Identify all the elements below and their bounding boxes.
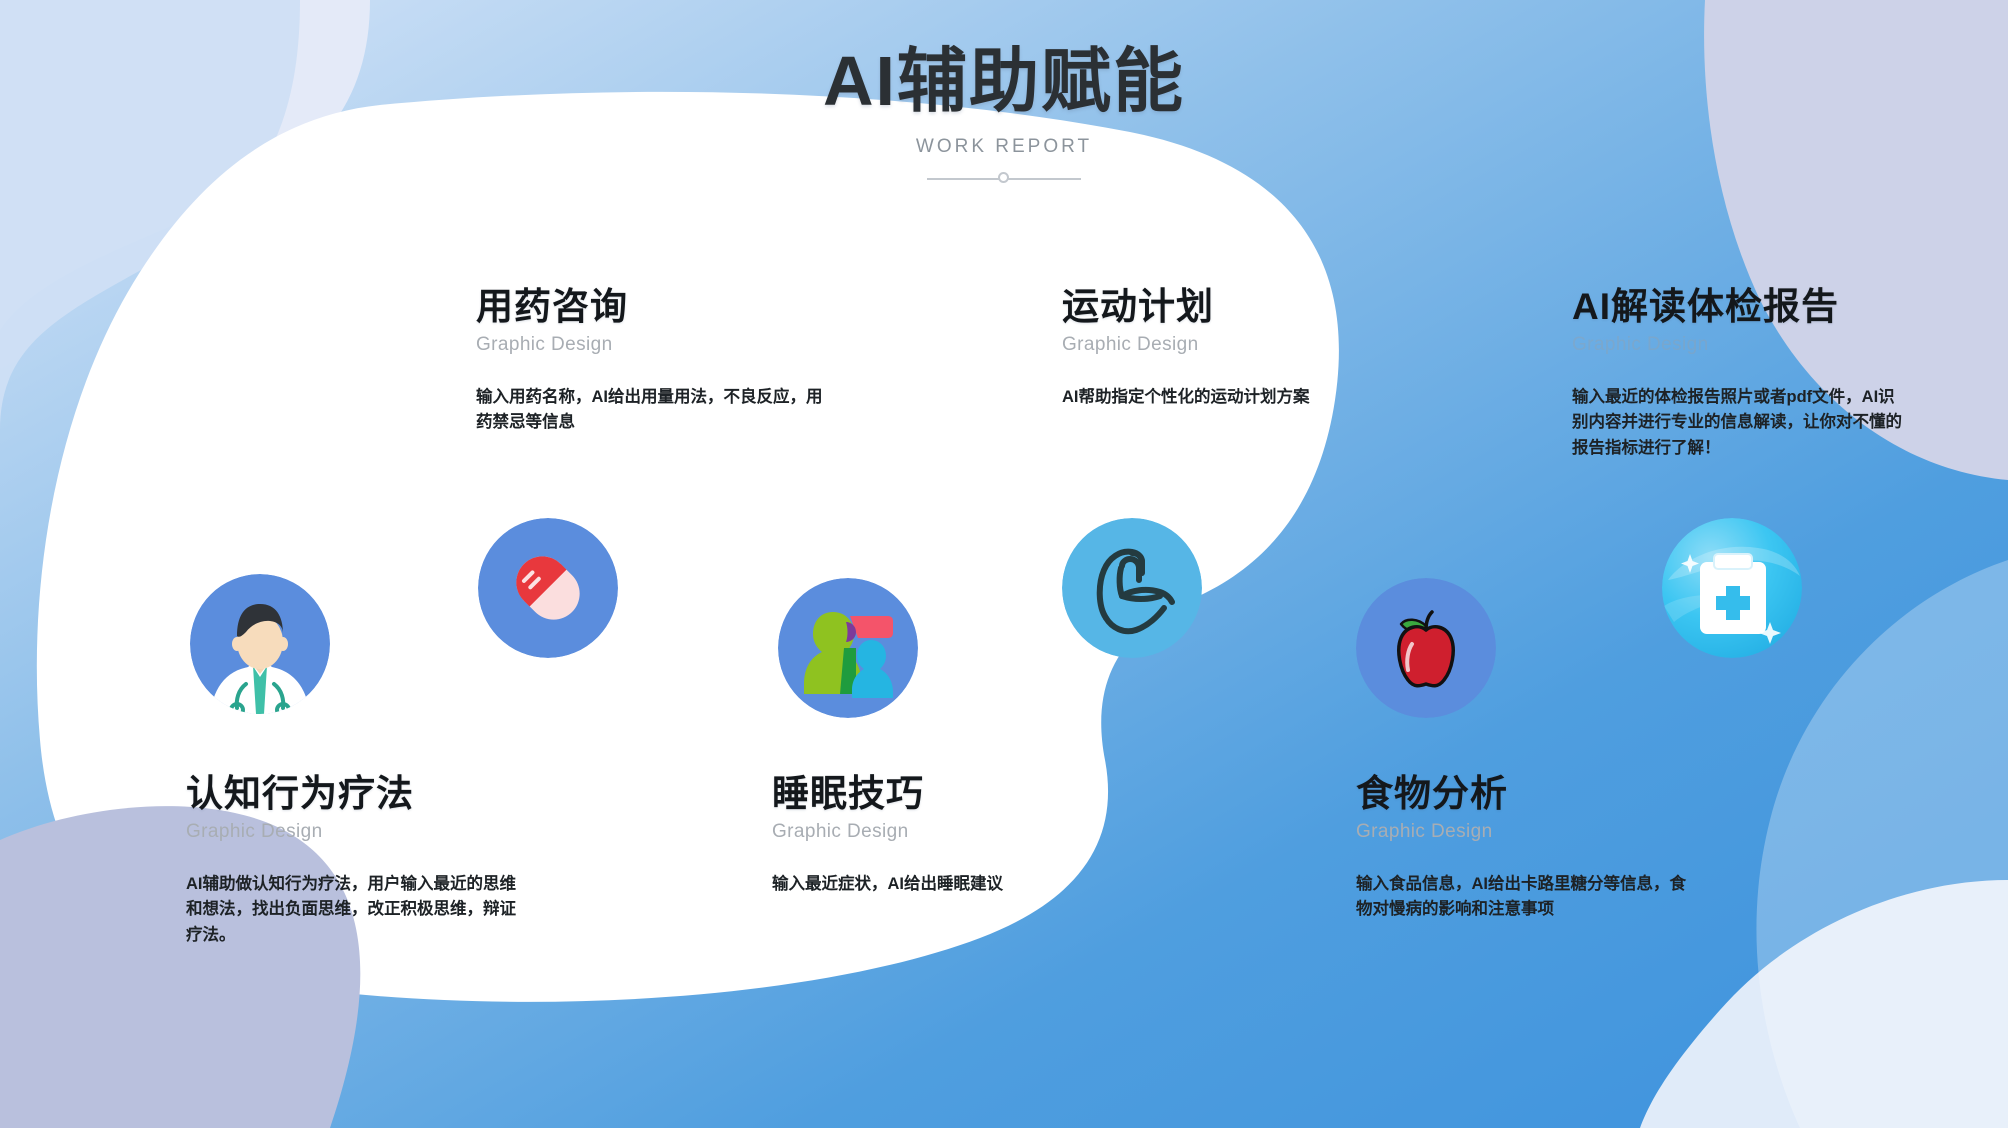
feature-description: AI帮助指定个性化的运动计划方案	[1062, 385, 1332, 411]
divider-knob-icon	[998, 172, 1009, 183]
feature-title: 用药咨询	[476, 285, 836, 329]
feature-description: 输入食品信息，AI给出卡路里糖分等信息，食物对慢病的影响和注意事项	[1356, 872, 1696, 923]
page-subtitle: WORK REPORT	[0, 136, 2008, 158]
doctor-avatar-icon	[190, 574, 330, 714]
pill-icon	[478, 518, 618, 658]
feature-food-analysis: 食物分析 Graphic Design 输入食品信息，AI给出卡路里糖分等信息，…	[1356, 772, 1696, 923]
page-title: AI辅助赋能	[0, 44, 2008, 120]
feature-sleep-tips: 睡眠技巧 Graphic Design 输入最近症状，AI给出睡眠建议	[772, 772, 1062, 897]
blob-right-soft-wash	[1756, 560, 2008, 1128]
feature-description: AI辅助做认知行为疗法，用户输入最近的思维和想法，找出负面思维，改正积极思维，辩…	[186, 872, 516, 949]
feature-subtitle: Graphic Design	[1062, 334, 1332, 356]
header-divider	[927, 172, 1081, 186]
feature-description: 输入最近的体检报告照片或者pdf文件，AI识别内容并进行专业的信息解读，让你对不…	[1572, 385, 1902, 462]
feature-cognitive-behavioral-therapy: 认知行为疗法 Graphic Design AI辅助做认知行为疗法，用户输入最近…	[186, 772, 516, 948]
feature-exercise-plan: 运动计划 Graphic Design AI帮助指定个性化的运动计划方案	[1062, 285, 1332, 410]
feature-subtitle: Graphic Design	[772, 821, 1062, 843]
feature-subtitle: Graphic Design	[476, 334, 836, 356]
feature-subtitle: Graphic Design	[1572, 334, 1902, 356]
feature-description: 输入用药名称，AI给出用量用法，不良反应，用药禁忌等信息	[476, 385, 836, 436]
feature-title: 认知行为疗法	[186, 772, 516, 816]
feature-subtitle: Graphic Design	[1356, 821, 1696, 843]
two-people-talking-icon	[778, 578, 918, 718]
feature-medication-consult: 用药咨询 Graphic Design 输入用药名称，AI给出用量用法，不良反应…	[476, 285, 836, 436]
slide-header: AI辅助赋能 WORK REPORT	[0, 44, 2008, 186]
feature-title: 运动计划	[1062, 285, 1332, 329]
presentation-slide: AI辅助赋能 WORK REPORT 用药咨询 Graphic Design 输…	[0, 0, 2008, 1128]
feature-subtitle: Graphic Design	[186, 821, 516, 843]
feature-title: AI解读体检报告	[1572, 285, 1902, 329]
feature-title: 食物分析	[1356, 772, 1696, 816]
feature-title: 睡眠技巧	[772, 772, 1062, 816]
muscle-arm-icon	[1062, 518, 1202, 658]
medical-clipboard-icon	[1662, 518, 1802, 658]
feature-ai-health-report: AI解读体检报告 Graphic Design 输入最近的体检报告照片或者pdf…	[1572, 285, 1902, 461]
feature-description: 输入最近症状，AI给出睡眠建议	[772, 872, 1062, 898]
apple-icon	[1356, 578, 1496, 718]
